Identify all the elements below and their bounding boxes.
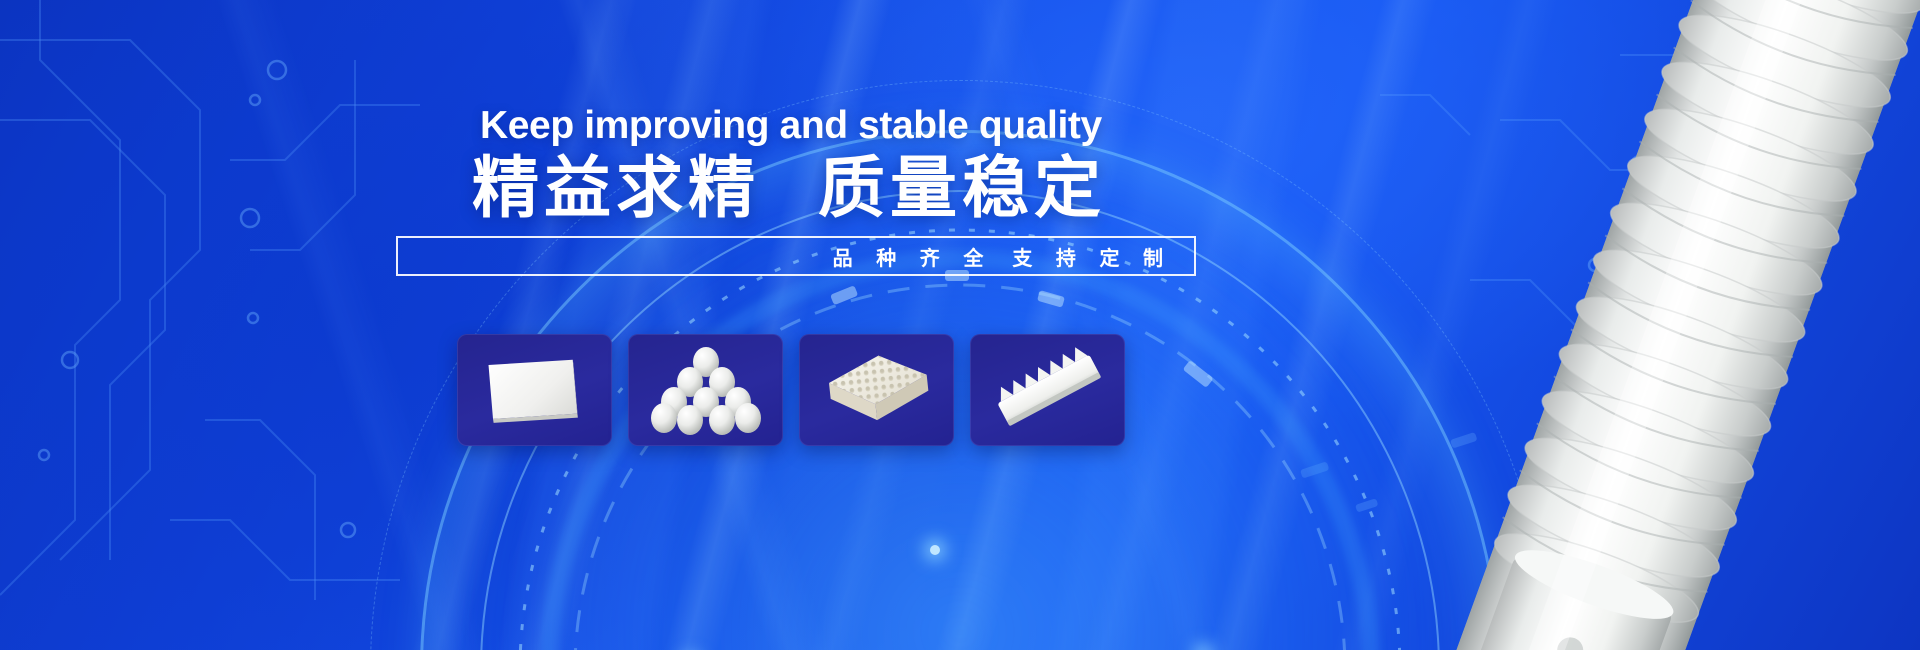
banner-content: Keep improving and stable quality 精益求精质量… [0, 0, 1920, 650]
headline-english-strong: Keep improving [480, 104, 769, 147]
product-thumb-ceramic-plate[interactable] [457, 334, 612, 446]
subline-left: 品 种 齐 全 [833, 248, 993, 270]
ceramic-balls-icon [650, 344, 762, 436]
subline-text: 品 种 齐 全支 持 定 制 [833, 242, 1194, 271]
headline-english: Keep improving and stable quality [480, 103, 1280, 149]
product-thumb-ceramic-comb[interactable] [970, 334, 1125, 446]
product-thumbnail-row [457, 334, 1125, 446]
headline-chinese: 精益求精质量稳定 [472, 148, 1372, 230]
headline-chinese-right: 质量稳定 [818, 151, 1106, 226]
product-thumb-ceramic-balls[interactable] [628, 334, 783, 446]
headline-english-rest: and stable quality [769, 104, 1102, 147]
subline-right: 支 持 定 制 [1012, 248, 1172, 270]
honeycomb-ceramic-icon [816, 344, 938, 436]
product-thumb-honeycomb-ceramic[interactable] [799, 334, 954, 446]
headline-chinese-left: 精益求精 [472, 151, 760, 226]
ceramic-plate-icon [475, 344, 595, 436]
subline-box: 品 种 齐 全支 持 定 制 [396, 236, 1196, 276]
ceramic-comb-icon [987, 344, 1109, 436]
promo-banner: Keep improving and stable quality 精益求精质量… [0, 0, 1920, 650]
